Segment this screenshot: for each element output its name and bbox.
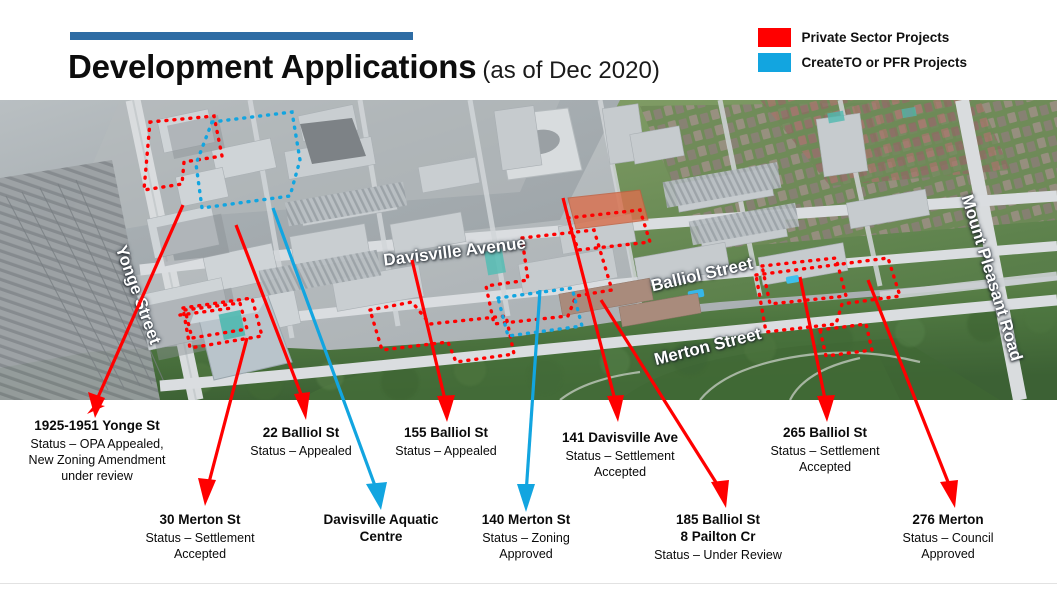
map-graphic	[0, 100, 1057, 400]
title-accent-bar	[70, 32, 413, 40]
callout-title: 276 Merton	[872, 512, 1024, 529]
slide-canvas: Development Applications(as of Dec 2020)…	[0, 0, 1057, 594]
callout-30-merton-st: 30 Merton St Status – Settlement Accepte…	[120, 512, 280, 562]
callout-title: 265 Balliol St	[745, 425, 905, 442]
callout-title: 1925-1951 Yonge St	[2, 418, 192, 435]
callout-276-merton: 276 Merton Status – Council Approved	[872, 512, 1024, 562]
legend-label-private-sector: Private Sector Projects	[801, 30, 949, 45]
callout-title: Davisville Aquatic Centre	[302, 512, 460, 546]
callout-title: 155 Balliol St	[371, 425, 521, 442]
callout-status: Status – OPA Appealed, New Zoning Amendm…	[2, 436, 192, 485]
callout-status: Status – Appealed	[371, 443, 521, 459]
callout-status: Status – Settlement Accepted	[120, 530, 280, 563]
legend-item-createto: CreateTO or PFR Projects	[758, 53, 967, 72]
callout-155-balliol-st: 155 Balliol St Status – Appealed	[371, 425, 521, 459]
red-square-swatch	[758, 28, 791, 47]
page-title-main: Development Applications	[68, 48, 476, 85]
callout-davisville-aquatic-centre: Davisville Aquatic Centre	[302, 512, 460, 547]
callout-status: Status – Zoning Approved	[452, 530, 600, 563]
callout-265-balliol-st: 265 Balliol St Status – Settlement Accep…	[745, 425, 905, 475]
legend: Private Sector Projects CreateTO or PFR …	[758, 28, 967, 72]
callout-140-merton-st: 140 Merton St Status – Zoning Approved	[452, 512, 600, 562]
callout-title: 30 Merton St	[120, 512, 280, 529]
legend-label-createto: CreateTO or PFR Projects	[801, 55, 967, 70]
callout-title: 185 Balliol St 8 Pailton Cr	[635, 512, 801, 546]
callout-status: Status – Settlement Accepted	[745, 443, 905, 476]
cyan-square-swatch	[758, 53, 791, 72]
legend-item-private-sector: Private Sector Projects	[758, 28, 967, 47]
callout-1925-1951-yonge-st: 1925-1951 Yonge St Status – OPA Appealed…	[2, 418, 192, 485]
page-title-subtitle: (as of Dec 2020)	[482, 57, 659, 84]
callout-title: 140 Merton St	[452, 512, 600, 529]
page-title: Development Applications(as of Dec 2020)	[68, 48, 660, 86]
bottom-divider	[0, 583, 1057, 584]
callout-status: Status – Appealed	[225, 443, 377, 459]
callout-status: Status – Council Approved	[872, 530, 1024, 563]
callout-141-davisville-ave: 141 Davisville Ave Status – Settlement A…	[539, 430, 701, 480]
callout-title: 141 Davisville Ave	[539, 430, 701, 447]
callout-22-balliol-st: 22 Balliol St Status – Appealed	[225, 425, 377, 459]
callout-status: Status – Under Review	[635, 547, 801, 563]
callout-185-balliol-st-8-pailton-cr: 185 Balliol St 8 Pailton Cr Status – Und…	[635, 512, 801, 563]
callout-status: Status – Settlement Accepted	[539, 448, 701, 481]
callout-title: 22 Balliol St	[225, 425, 377, 442]
aerial-map-image: Yonge Street Davisville Avenue Balliol S…	[0, 100, 1057, 400]
